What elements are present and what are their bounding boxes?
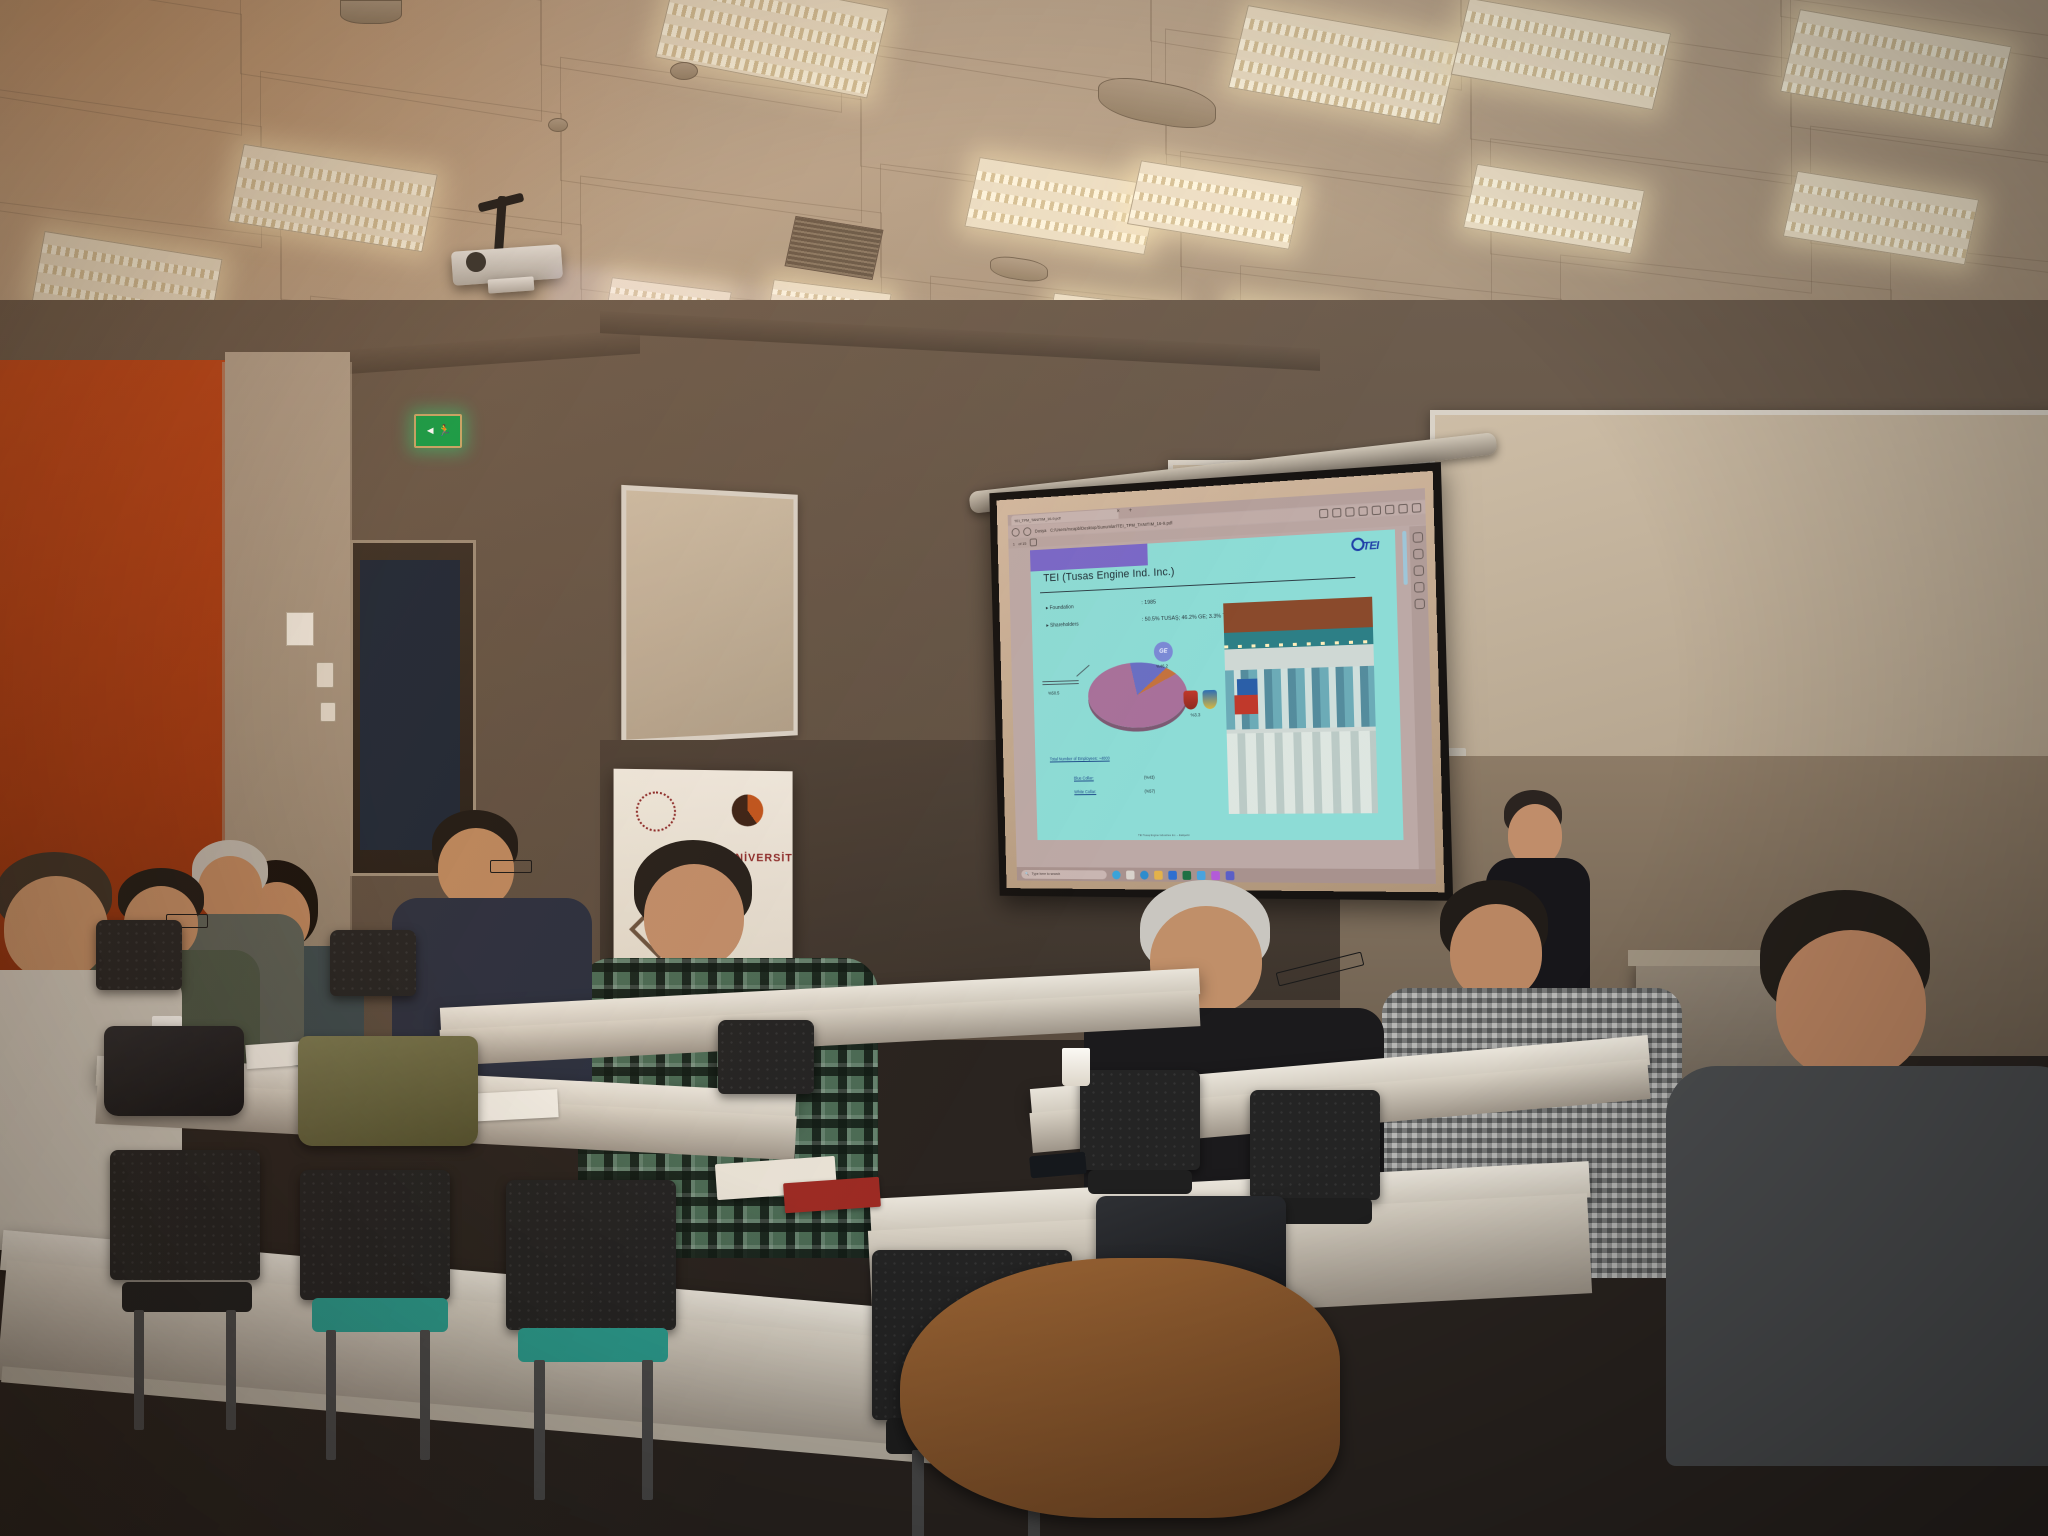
pdf-search-group[interactable]: [1030, 538, 1037, 546]
slide-footer-note: TEI Tusaş Engine Industries Inc. – Eskiş…: [1138, 833, 1190, 837]
pdf-slide: TEI TEI (Tusas Engine Ind. Inc.) ▸ Found…: [1030, 529, 1404, 840]
chair-backrest: [1080, 1070, 1200, 1170]
factory-ceiling-lights: [1224, 640, 1373, 649]
search-icon: 🔍: [1025, 872, 1029, 876]
slide-row-label: ▸ Shareholders: [1046, 622, 1079, 629]
tab-close-icon[interactable]: ×: [1116, 509, 1119, 515]
slide-row-label: ▸ Foundation: [1046, 604, 1074, 611]
projection-screen-surface: TEI_TPM_TANITIM_16-9.pdf × + Dosya C:/Us…: [997, 471, 1445, 892]
address-file-label: Dosya: [1035, 528, 1047, 534]
chair-seat: [312, 1298, 448, 1332]
light-switch[interactable]: [316, 662, 334, 688]
siparis-tasarim-labs-logo: [732, 794, 764, 826]
employees-row-value: (%57): [1144, 789, 1155, 794]
smartphone[interactable]: [1029, 1152, 1087, 1179]
presenter-head: [1508, 804, 1562, 866]
row-label-text: Shareholders: [1050, 622, 1079, 629]
paper-cup: [1062, 1048, 1090, 1086]
new-tab-icon[interactable]: +: [1129, 508, 1132, 514]
chair-backrest: [330, 930, 416, 996]
taff-shield-icon: [1183, 690, 1198, 709]
pdf-page-number: 1: [1013, 541, 1015, 546]
print-icon[interactable]: [1414, 582, 1425, 593]
head: [1776, 930, 1926, 1080]
head: [198, 856, 262, 922]
chair-backrest: [110, 1150, 260, 1280]
factory-floor-row: [1227, 731, 1378, 814]
search-icon[interactable]: [1413, 532, 1424, 543]
chair-backrest: [96, 920, 182, 990]
fit-page-icon[interactable]: [1358, 506, 1367, 516]
chair-leg: [642, 1360, 653, 1500]
add-icon[interactable]: [1414, 598, 1425, 609]
chair-seat: [122, 1282, 252, 1312]
brown-coat: [900, 1258, 1340, 1518]
tei-brand-logo: TEI: [1352, 537, 1380, 554]
cortana-icon[interactable]: [1112, 870, 1121, 879]
projected-browser-window: TEI_TPM_TANITIM_16-9.pdf × + Dosya C:/Us…: [1008, 488, 1436, 884]
chair-backrest: [1250, 1090, 1380, 1200]
slide-row-value: : 1985: [1141, 600, 1156, 607]
bullet-icon: ▸: [1046, 623, 1049, 629]
head: [4, 876, 108, 980]
door-info-sign: [286, 612, 314, 646]
lecture-hall-photo: ◄ 🏃 TEI_TPM_TANITIM_16-9.pdf × + Dosya C…: [0, 0, 2048, 1536]
ge-logo-badge: GE: [1154, 641, 1173, 661]
pie-chart-body: [1087, 661, 1188, 729]
mail-icon[interactable]: [1168, 870, 1177, 879]
pie-callout-leader: [1042, 683, 1078, 685]
rotate-icon[interactable]: [1345, 507, 1354, 517]
factory-red-cabinet: [1234, 695, 1258, 715]
ministry-seal-logo: [636, 791, 676, 832]
ceiling-speaker: [340, 0, 402, 24]
eyeglasses: [490, 860, 532, 873]
tab-title: TEI_TPM_TANITIM_16-9.pdf: [1014, 515, 1061, 523]
factory-blue-cabinet: [1237, 678, 1258, 696]
chair-backrest: [718, 1020, 814, 1094]
chair-seat: [1088, 1170, 1192, 1194]
pdf-side-rail[interactable]: [1409, 526, 1436, 884]
zoom-out-icon[interactable]: [1319, 508, 1328, 518]
whiteboard-right: [1430, 410, 2048, 780]
bullet-icon: ▸: [1046, 605, 1049, 611]
head: [644, 864, 744, 968]
search-placeholder: Type here to search: [1032, 872, 1061, 876]
laptop-bag-black: [104, 1026, 244, 1116]
search-icon[interactable]: [1030, 538, 1037, 546]
pie-callout-leader: [1042, 680, 1078, 682]
shareholders-pie-chart: GE %46.2 %50.5 %3.3: [1065, 644, 1208, 743]
torso: [1666, 1066, 2048, 1466]
chair-backrest: [506, 1180, 676, 1330]
teams-icon[interactable]: [1226, 871, 1235, 880]
chair-leg: [534, 1360, 545, 1500]
zoom-in-icon[interactable]: [1332, 507, 1341, 517]
smoke-detector: [548, 118, 568, 132]
smoke-detector: [670, 62, 698, 80]
music-icon[interactable]: [1211, 871, 1220, 880]
draw-icon[interactable]: [1372, 505, 1381, 515]
excel-icon[interactable]: [1182, 870, 1191, 879]
chair-seat: [518, 1328, 668, 1362]
zoom-icon[interactable]: [1413, 549, 1424, 560]
employees-row-label: White Collar:: [1074, 789, 1096, 794]
projector-lens: [466, 252, 486, 272]
read-aloud-icon[interactable]: [1385, 504, 1395, 514]
exit-arrow-icon: ◄: [425, 426, 436, 437]
running-person-icon: 🏃: [438, 426, 452, 437]
more-icon[interactable]: [1412, 502, 1422, 512]
windows-taskbar[interactable]: 🔍 Type here to search: [1017, 867, 1436, 884]
pie-label-ge: %46.2: [1156, 663, 1168, 668]
employees-row-label: Blue Collar:: [1074, 776, 1094, 781]
employees-table-header: Total Number of Employees: ~4000: [1050, 756, 1110, 762]
folder-icon[interactable]: [1197, 870, 1206, 879]
chair-leg: [912, 1450, 924, 1536]
chair-leg: [326, 1330, 336, 1460]
vertical-scrollbar[interactable]: [1402, 531, 1408, 585]
head: [1450, 904, 1542, 1000]
factory-floor-photo: [1223, 597, 1378, 814]
file-explorer-icon[interactable]: [1154, 870, 1163, 879]
tusas-shield-icon: [1202, 690, 1217, 709]
slide-row-value: : 50.5% TUSAŞ; 46.2% GE; 3.3% TAFF: [1142, 613, 1236, 623]
pdf-page-count: of 15: [1018, 540, 1026, 545]
chair-leg: [134, 1310, 144, 1430]
task-view-icon[interactable]: [1126, 870, 1135, 879]
refresh-icon[interactable]: [1012, 527, 1020, 536]
highlight-icon[interactable]: [1398, 503, 1408, 513]
row-label-text: Foundation: [1050, 604, 1074, 611]
laptop-bag-olive: [298, 1036, 478, 1146]
chair-leg: [226, 1310, 236, 1430]
card-reader[interactable]: [320, 702, 336, 722]
taskbar-search-box[interactable]: 🔍 Type here to search: [1021, 869, 1107, 878]
chair-backrest: [300, 1170, 450, 1300]
whiteboard-left: [621, 485, 797, 745]
door-window: [360, 560, 460, 850]
employees-row-value: (%43): [1144, 775, 1155, 780]
pie-label-taff: %3.3: [1191, 712, 1201, 717]
chair-leg: [420, 1330, 430, 1460]
pie-callout-leader: [1076, 665, 1089, 677]
pie-label-tusas: %50.5: [1048, 690, 1059, 695]
settings-icon[interactable]: [1413, 565, 1424, 576]
emergency-exit-sign: ◄ 🏃: [414, 414, 462, 448]
edge-icon[interactable]: [1140, 870, 1149, 879]
file-badge-icon: [1023, 527, 1031, 536]
